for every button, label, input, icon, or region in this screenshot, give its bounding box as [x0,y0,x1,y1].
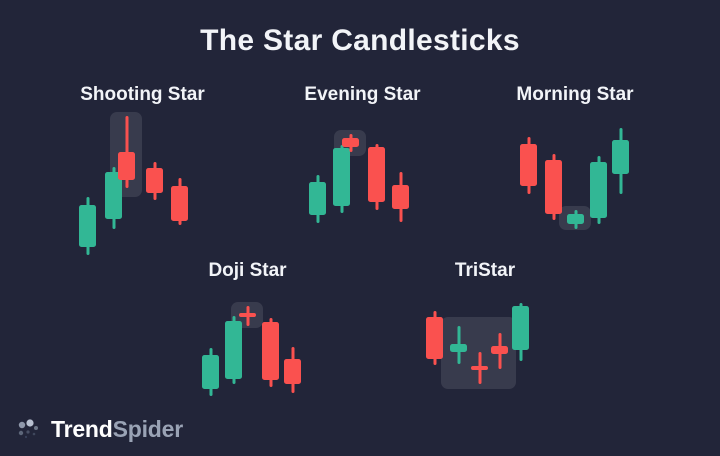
candle-body [79,205,96,247]
pattern-chart-shooting-star [70,112,200,247]
candle [450,303,467,389]
pattern-chart-morning-star [512,128,632,233]
logo-wordmark: TrendSpider [51,418,183,441]
candle [146,112,163,247]
candle-body [284,359,301,384]
candle-body [309,182,326,215]
candle-body [450,344,467,352]
candle-body [426,317,443,359]
candlestick-chart [300,130,415,225]
candle-body [171,186,188,221]
candle [471,303,488,389]
candle [284,302,301,392]
candle-body [612,140,629,174]
pattern-label-tristar: TriStar [435,260,535,282]
pattern-chart-doji-star [195,302,305,392]
candle [567,128,584,233]
pattern-chart-tristar [420,303,535,389]
spider-dots-icon [16,416,42,442]
candle [309,130,326,225]
candle-body [545,160,562,214]
candle [491,303,508,389]
candle-body [520,144,537,186]
candle-body [590,162,607,218]
logo-text-spider: Spider [113,416,183,442]
candle-body [491,346,508,354]
candle [590,128,607,233]
candlestick-chart [512,128,632,233]
candle-body [262,322,279,380]
candle-body [512,306,529,350]
candlestick-chart [420,303,535,389]
brand-logo: TrendSpider [16,416,183,442]
candle [171,112,188,247]
candle-body [392,185,409,209]
candle [392,130,409,225]
candle [520,128,537,233]
candle-body [342,138,359,147]
candle-body [202,355,219,389]
page-title: The Star Candlesticks [0,24,720,58]
pattern-chart-evening-star [300,130,415,225]
logo-text-trend: Trend [51,416,113,442]
candle [368,130,385,225]
candlestick-chart [70,112,200,247]
candlestick-chart [195,302,305,392]
pattern-label-shooting-star: Shooting Star [60,84,225,106]
candle-body [118,152,135,180]
candle-body [146,168,163,193]
infographic-canvas: The Star Candlesticks Shooting StarEveni… [0,0,720,456]
candle [612,128,629,233]
candle [202,302,219,392]
candle [118,112,135,247]
candle [512,303,529,389]
candle-body [368,147,385,202]
candle [545,128,562,233]
candle-body [239,313,256,317]
pattern-label-evening-star: Evening Star [285,84,440,106]
candle [79,112,96,247]
candle-body [471,366,488,370]
pattern-label-morning-star: Morning Star [495,84,655,106]
candle-body [567,214,584,224]
candle [262,302,279,392]
candle [239,302,256,392]
candle [342,130,359,225]
candle [426,303,443,389]
pattern-label-doji-star: Doji Star [190,260,305,282]
